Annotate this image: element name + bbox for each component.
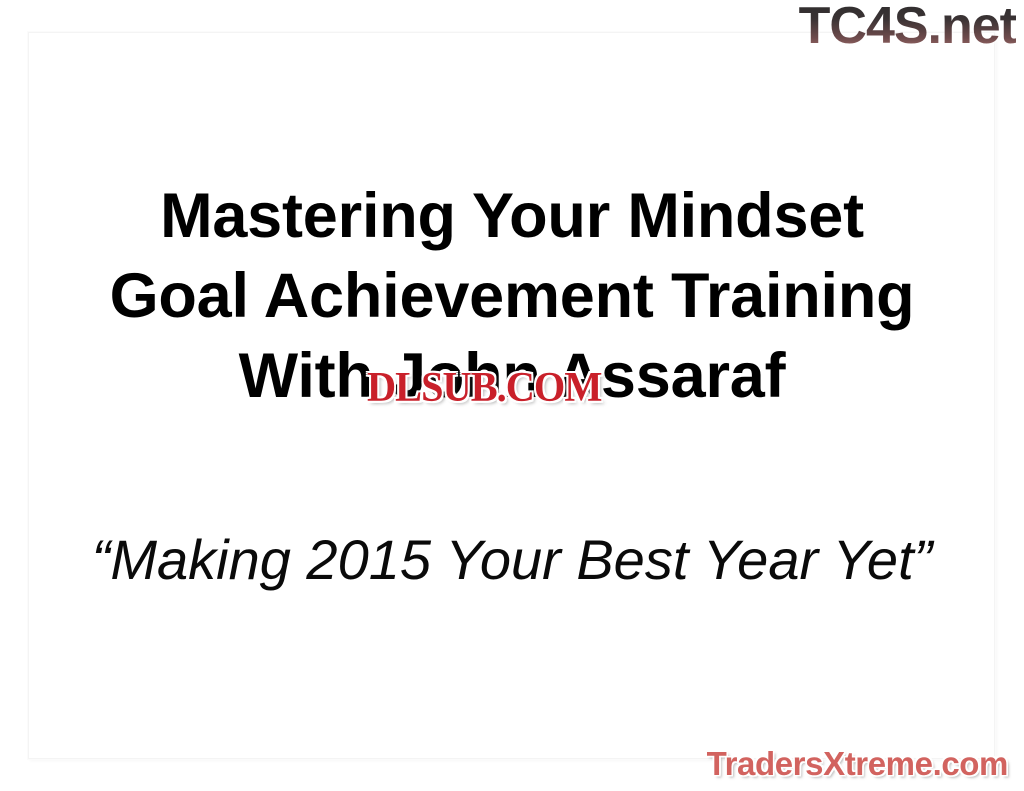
title-line-2: Goal Achievement Training: [0, 256, 1024, 336]
subtitle-line-1: “Making 2015 Your Best Year Yet”: [0, 524, 1024, 596]
slide-canvas: Mastering Your Mindset Goal Achievement …: [0, 0, 1024, 791]
slide-subtitle: “Making 2015 Your Best Year Yet”: [0, 524, 1024, 596]
watermark-tc4s-net: TC4S.net: [799, 0, 1016, 56]
watermark-dlsub-com: DLSUB.COM: [367, 366, 601, 410]
title-line-1: Mastering Your Mindset: [0, 176, 1024, 256]
watermark-tradersxtreme-com: TradersXtreme.com: [707, 745, 1008, 783]
